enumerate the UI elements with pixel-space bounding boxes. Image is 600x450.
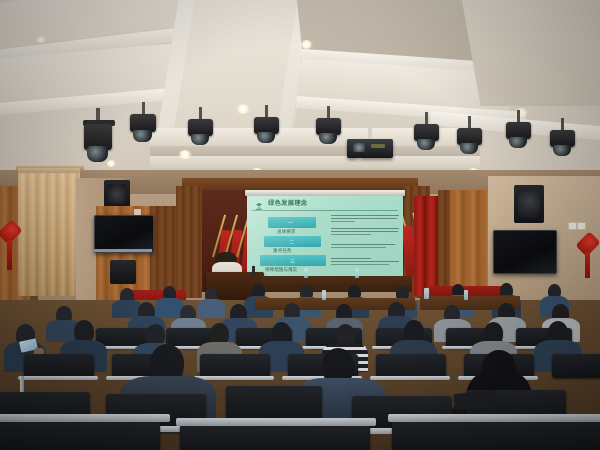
wall-speaker-right xyxy=(514,185,544,223)
curtain-light xyxy=(18,168,80,296)
chair-frame xyxy=(0,414,170,422)
conference-chair xyxy=(0,420,160,450)
ceiling-projector xyxy=(347,139,393,158)
wall-tv-right xyxy=(493,230,557,274)
water-bottle xyxy=(355,268,359,278)
wall-speaker-left xyxy=(104,180,130,208)
conference-chair xyxy=(392,420,600,450)
downlight xyxy=(300,40,313,49)
water-bottle xyxy=(304,268,308,278)
downlight xyxy=(178,150,192,159)
floor-speaker-left xyxy=(110,260,136,284)
knot-tassel xyxy=(585,252,590,278)
wall-tv-left xyxy=(94,215,154,253)
par-can-stage-light xyxy=(548,126,578,158)
par-can-stage-light xyxy=(186,115,216,147)
par-can-stage-light xyxy=(80,118,118,164)
wall-power-outlet xyxy=(577,222,586,230)
projection-screen: 绿色发展理念 一 总体要求 二 重点任务 三 保障措施与落实 xyxy=(247,196,403,276)
wall-power-outlet xyxy=(568,222,577,230)
downlight xyxy=(36,36,46,43)
conference-chair xyxy=(180,424,370,450)
chair-frame xyxy=(388,414,600,422)
tv-bezel xyxy=(94,249,152,252)
ceiling-panel xyxy=(459,0,600,106)
par-can-stage-light xyxy=(455,124,485,156)
par-can-stage-light xyxy=(412,120,442,152)
chair-frame xyxy=(176,418,376,426)
ceiling-ring xyxy=(150,156,480,170)
downlight xyxy=(236,104,250,114)
screen-glare xyxy=(247,196,403,276)
wall-sensor xyxy=(134,209,141,215)
par-can-stage-light xyxy=(504,118,534,150)
conference-hall-photo: 绿色发展理念 一 总体要求 二 重点任务 三 保障措施与落实 xyxy=(0,0,600,450)
par-can-stage-light xyxy=(252,113,282,145)
projector-mount xyxy=(368,126,372,140)
par-can-stage-light xyxy=(314,114,344,146)
knot-tassel xyxy=(7,240,12,270)
podium-microphone xyxy=(252,266,255,276)
par-can-stage-light xyxy=(128,110,160,144)
